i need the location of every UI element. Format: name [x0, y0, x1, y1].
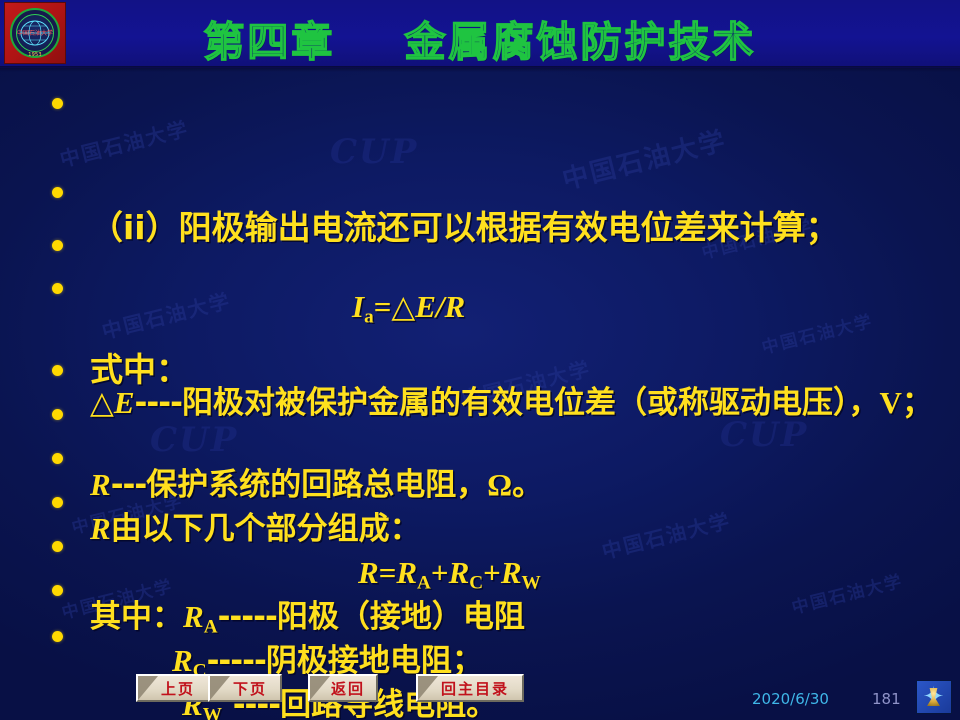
lamp-star-icon[interactable]: ✦ — [916, 680, 952, 714]
bullet-icon — [52, 187, 63, 198]
bullet-icon — [52, 541, 63, 552]
bullet-icon — [52, 453, 63, 464]
presentation-slide: 中国石油大学 CUP 中国石油大学 中国石油大学 中国石油大学 中国石油大学 中… — [0, 0, 960, 720]
bullet-icon — [52, 365, 63, 376]
university-logo: 中国石油大学 1953 — [4, 2, 66, 64]
page-title: 第四章 金属腐蚀防护技术 — [0, 8, 960, 68]
slide-body: （ii）阳极输出电流还可以根据有效电位差来计算； Ia=△E/R 式中： △E-… — [0, 70, 960, 650]
bullet-icon — [52, 283, 63, 294]
main-menu-button[interactable]: 回主目录 — [416, 674, 524, 702]
main-menu-label: 回主目录 — [431, 678, 509, 699]
bullet-icon — [52, 585, 63, 596]
previous-page-label: 上页 — [151, 678, 195, 699]
logo-year: 1953 — [5, 52, 65, 58]
bullet-icon — [52, 240, 63, 251]
bullet-icon — [52, 631, 63, 642]
logo-caption-cn: 中国石油大学 — [5, 28, 65, 37]
back-button[interactable]: 返回 — [308, 674, 378, 702]
slide-page-number: 181 — [872, 690, 901, 708]
next-page-button[interactable]: 下页 — [208, 674, 282, 702]
back-label: 返回 — [321, 678, 365, 699]
previous-page-button[interactable]: 上页 — [136, 674, 210, 702]
slide-date: 2020/6/30 — [752, 690, 829, 708]
next-page-label: 下页 — [223, 678, 267, 699]
bullet-icon — [52, 497, 63, 508]
bullet-icon — [52, 409, 63, 420]
bullet-icon — [52, 98, 63, 109]
